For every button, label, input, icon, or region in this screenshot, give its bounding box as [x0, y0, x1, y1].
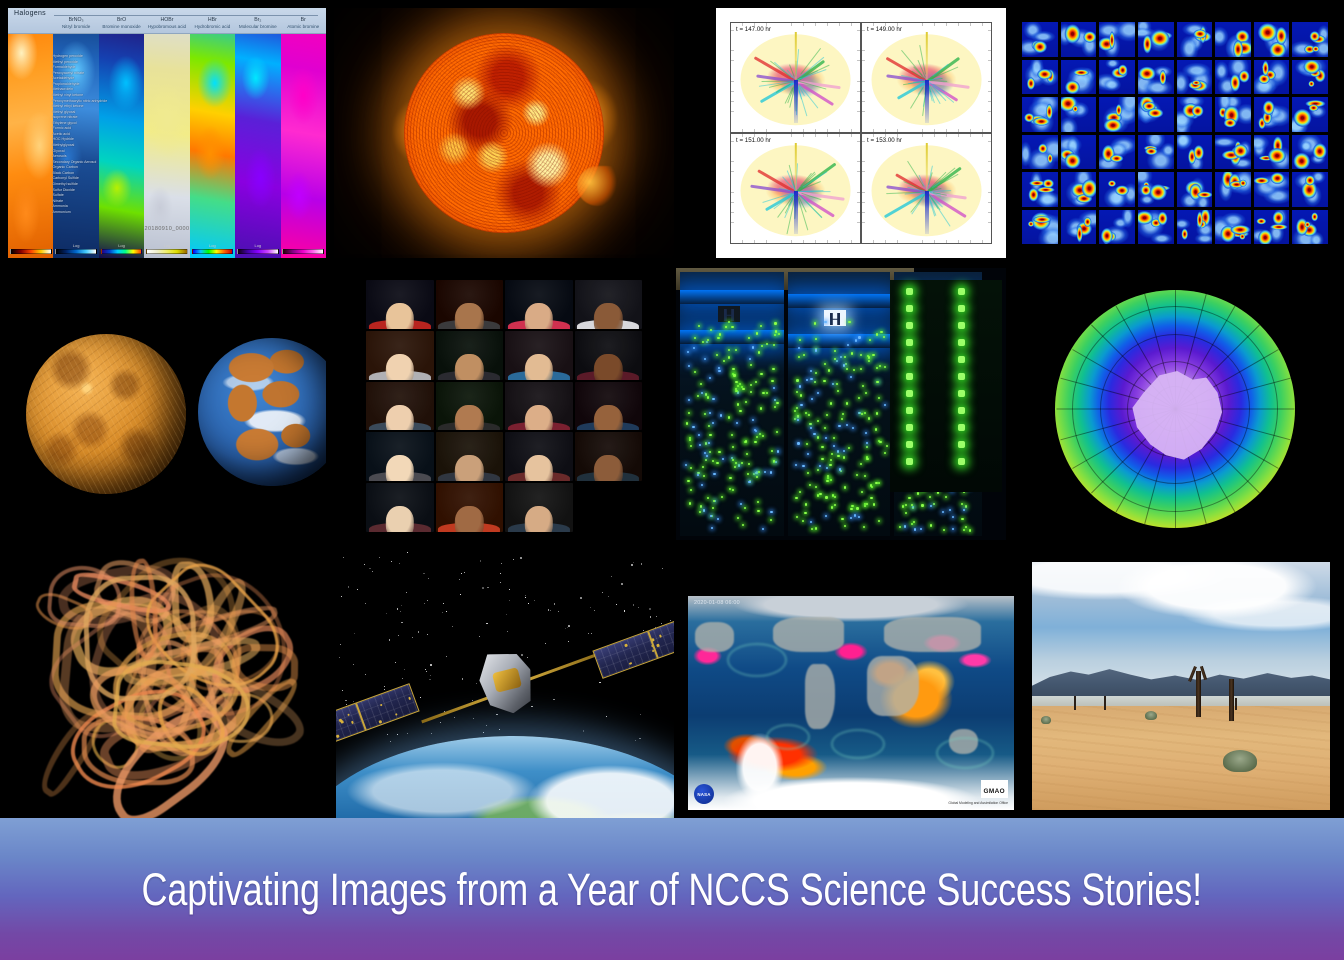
status-led: [879, 365, 881, 367]
status-led: [750, 391, 752, 393]
tile-supercomputer-racks: [676, 268, 1006, 540]
status-led: [774, 406, 776, 408]
participant-head: [594, 405, 622, 431]
status-led: [826, 467, 828, 469]
status-led: [802, 465, 804, 467]
status-led: [815, 527, 817, 529]
star: [462, 678, 464, 680]
status-led: [958, 390, 965, 397]
participant-head: [455, 354, 483, 380]
status-led: [963, 529, 965, 531]
heatmap-cell: [1292, 97, 1328, 132]
status-led: [850, 508, 852, 510]
status-led: [700, 505, 702, 507]
status-led: [843, 450, 845, 452]
star: [357, 589, 358, 590]
status-led: [875, 428, 877, 430]
status-led: [829, 464, 831, 466]
heatmap-cell: [1292, 172, 1328, 207]
status-led: [886, 445, 888, 447]
heatmap-cell: [1022, 60, 1058, 95]
status-led: [864, 475, 866, 477]
status-led: [697, 395, 699, 397]
status-led: [840, 356, 842, 358]
star: [472, 700, 473, 701]
status-led: [847, 344, 849, 346]
status-led: [815, 349, 817, 351]
status-led: [906, 390, 913, 397]
halogen-column: Br₂Molecular bromine Log: [235, 8, 280, 258]
status-led: [810, 378, 812, 380]
status-led: [737, 385, 739, 387]
status-led: [756, 476, 758, 478]
star: [643, 630, 644, 631]
heatmap-cell: [1138, 210, 1174, 245]
status-led: [758, 351, 760, 353]
panel-cell: [347, 713, 350, 716]
heatmap-cell: [1292, 60, 1328, 95]
status-led: [798, 356, 800, 358]
species-item: Ammonium: [53, 210, 108, 216]
participant-head: [455, 455, 483, 481]
status-led: [906, 441, 913, 448]
status-led: [860, 463, 862, 465]
status-led: [707, 339, 709, 341]
status-led: [749, 358, 751, 360]
star: [638, 607, 639, 608]
star: [398, 635, 399, 636]
status-led: [739, 383, 741, 385]
heatmap-cell: [1215, 60, 1251, 95]
status-led: [757, 501, 759, 503]
halogen-column: BrAtomic bromine: [281, 8, 326, 258]
status-led: [834, 496, 836, 498]
star: [520, 557, 521, 558]
status-led: [739, 410, 741, 412]
participant-tile[interactable]: [505, 280, 573, 329]
status-led: [839, 468, 841, 470]
status-led: [851, 352, 853, 354]
star: [531, 706, 533, 708]
field-line-panel: t = 149.00 hr: [861, 22, 992, 133]
status-led: [814, 322, 816, 324]
status-led: [817, 469, 819, 471]
rack-cabinet: [788, 272, 890, 536]
status-led: [728, 356, 730, 358]
status-led: [745, 401, 747, 403]
heatmap-cell: [1022, 172, 1058, 207]
star: [594, 610, 595, 611]
heatmap-cell: [1177, 60, 1213, 95]
panel-cell: [379, 720, 382, 723]
participant-tile[interactable]: [436, 382, 504, 431]
map-timestamp: 2020-01-08 06:00: [694, 600, 740, 606]
star: [509, 589, 510, 590]
status-led: [815, 372, 817, 374]
participant-tile[interactable]: [575, 331, 643, 380]
status-led: [690, 445, 692, 447]
star: [400, 611, 401, 612]
participant-head: [525, 455, 553, 481]
participant-head: [594, 303, 622, 329]
star: [590, 607, 591, 608]
status-led: [701, 484, 703, 486]
participant-head: [594, 354, 622, 380]
status-led: [906, 373, 913, 380]
participant-tile[interactable]: [366, 280, 434, 329]
participant-tile[interactable]: [366, 483, 434, 532]
participant-head: [455, 405, 483, 431]
status-led: [833, 437, 835, 439]
participant-tile[interactable]: [366, 331, 434, 380]
status-led: [766, 392, 768, 394]
heatmap-cell: [1061, 22, 1097, 57]
status-led: [728, 416, 730, 418]
status-led: [712, 507, 714, 509]
heatmap-cell: [1254, 135, 1290, 170]
status-led: [746, 453, 748, 455]
heatmap-cell: [1292, 22, 1328, 57]
status-led: [913, 521, 915, 523]
panel-cell: [625, 644, 628, 647]
status-led: [750, 364, 752, 366]
participant-tile[interactable]: [366, 382, 434, 431]
status-led: [906, 458, 913, 465]
status-led: [694, 371, 696, 373]
status-led: [850, 376, 852, 378]
status-led: [706, 455, 708, 457]
participant-tile[interactable]: [505, 382, 573, 431]
status-led: [709, 451, 711, 453]
participant-tile[interactable]: [505, 483, 573, 532]
panel-time-label: t = 147.00 hr: [736, 26, 771, 33]
star: [608, 596, 609, 597]
participant-tile[interactable]: [505, 432, 573, 481]
gmao-org-name: Global Modeling and Assimilation Office: [948, 801, 1008, 805]
status-led: [906, 322, 913, 329]
heatmap-cell: [1254, 60, 1290, 95]
status-led: [952, 516, 954, 518]
star: [430, 664, 431, 665]
heatmap-cell: [1061, 135, 1097, 170]
venus-globe: [26, 334, 186, 494]
star: [521, 654, 523, 656]
halogen-column: HOBrHypobromous acid Log 20180910_0000: [144, 8, 189, 258]
status-led: [876, 381, 878, 383]
participant-tile[interactable]: [436, 432, 504, 481]
heatmap-cell: [1061, 60, 1097, 95]
status-led: [771, 450, 773, 452]
status-led: [842, 413, 844, 415]
star: [430, 675, 431, 676]
star: [633, 562, 634, 563]
star: [342, 690, 343, 691]
status-led: [705, 459, 707, 461]
colorbar-label: Log: [144, 243, 189, 248]
status-led: [861, 491, 863, 493]
status-led: [855, 339, 857, 341]
halogen-column: [8, 8, 53, 258]
status-led: [797, 442, 799, 444]
panel-time-label: t = 151.00 hr: [736, 137, 771, 144]
status-led: [720, 414, 722, 416]
star: [506, 614, 507, 615]
status-led: [865, 392, 867, 394]
heatmap-cell: [1215, 172, 1251, 207]
star: [525, 595, 526, 596]
star: [429, 679, 431, 681]
status-led: [752, 346, 754, 348]
status-led: [704, 452, 706, 454]
status-led: [764, 471, 766, 473]
desert-bush: [1223, 750, 1257, 772]
status-led: [722, 458, 724, 460]
status-led: [830, 459, 832, 461]
star: [599, 682, 601, 684]
status-led: [810, 521, 812, 523]
status-led: [844, 356, 846, 358]
status-led: [834, 350, 836, 352]
heatmap-cell: [1099, 97, 1135, 132]
halogen-column-label: BrNO₃Nitryl bromide: [53, 17, 98, 29]
status-led: [929, 496, 931, 498]
status-led: [884, 452, 886, 454]
status-led: [878, 482, 880, 484]
status-led: [689, 439, 691, 441]
tile-heatmap-tile-grid: [1014, 8, 1336, 258]
heatmap-cell: [1138, 135, 1174, 170]
status-led: [863, 526, 865, 528]
star: [534, 600, 535, 601]
star: [460, 594, 461, 595]
status-led: [958, 373, 965, 380]
star: [354, 633, 355, 634]
tile-antarctic-ozone-hole: [1014, 278, 1336, 540]
status-led: [687, 351, 689, 353]
status-led: [735, 381, 737, 383]
heatmap-cell: [1292, 210, 1328, 245]
heatmap-grid: [1022, 22, 1328, 244]
status-led: [756, 436, 758, 438]
star: [427, 634, 428, 635]
solar-disk: [404, 33, 604, 233]
status-led: [688, 412, 690, 414]
status-led: [717, 337, 719, 339]
status-led: [748, 463, 750, 465]
status-led: [861, 413, 863, 415]
status-led: [830, 402, 832, 404]
status-led: [943, 529, 945, 531]
participant-tile[interactable]: [436, 331, 504, 380]
status-led: [906, 339, 913, 346]
status-led: [848, 321, 850, 323]
star: [602, 592, 603, 593]
status-led: [728, 349, 730, 351]
status-led: [690, 467, 692, 469]
status-led: [809, 484, 811, 486]
tile-venus-and-earthlike-planet: [8, 318, 326, 510]
status-led: [809, 423, 811, 425]
status-led: [707, 497, 709, 499]
star: [364, 564, 365, 565]
star: [365, 603, 366, 604]
status-led: [756, 332, 758, 334]
star: [401, 605, 402, 606]
status-led: [704, 413, 706, 415]
status-led: [846, 368, 848, 370]
status-led: [873, 503, 875, 505]
status-led: [866, 458, 868, 460]
participant-head: [386, 506, 414, 532]
status-led: [942, 511, 944, 513]
status-led: [745, 440, 747, 442]
participant-tile[interactable]: [575, 432, 643, 481]
status-led: [876, 412, 878, 414]
star: [459, 579, 460, 580]
star: [580, 597, 582, 599]
status-led: [742, 524, 744, 526]
status-led: [766, 343, 768, 345]
status-led: [686, 422, 688, 424]
status-led: [747, 473, 749, 475]
star: [486, 725, 487, 726]
status-led: [692, 426, 694, 428]
status-led: [762, 435, 764, 437]
status-led: [732, 368, 734, 370]
status-led: [870, 497, 872, 499]
status-led: [770, 519, 772, 521]
star: [662, 568, 663, 569]
status-led: [858, 397, 860, 399]
participant-tile[interactable]: [436, 483, 504, 532]
heatmap-cell: [1061, 172, 1097, 207]
participant-tile[interactable]: [505, 331, 573, 380]
colorbar-label: Log: [99, 243, 144, 248]
participant-tile[interactable]: [575, 382, 643, 431]
participant-grid: [366, 280, 642, 532]
status-led: [699, 511, 701, 513]
star: [389, 639, 390, 640]
star: [500, 573, 501, 574]
participant-head: [525, 303, 553, 329]
participant-tile[interactable]: [436, 280, 504, 329]
status-led: [846, 424, 848, 426]
star: [507, 631, 508, 632]
star: [387, 734, 388, 735]
dead-tree-trunk: [1229, 679, 1234, 721]
banner-title: Captivating Images from a Year of NCCS S…: [142, 867, 1202, 912]
status-led: [921, 504, 923, 506]
status-led: [808, 414, 810, 416]
status-led: [713, 500, 715, 502]
status-led: [843, 456, 845, 458]
status-led: [721, 496, 723, 498]
star: [407, 552, 408, 553]
status-led: [741, 462, 743, 464]
status-led: [949, 509, 951, 511]
star: [473, 718, 474, 719]
fence-post: [1235, 698, 1237, 710]
star: [611, 576, 613, 578]
status-led: [804, 512, 806, 514]
status-led: [698, 325, 700, 327]
star: [650, 616, 652, 618]
status-led: [856, 474, 858, 476]
status-led: [876, 367, 878, 369]
halogen-column-label: HOBrHypobromous acid: [144, 17, 189, 29]
status-led: [958, 407, 965, 414]
status-led: [852, 427, 854, 429]
star: [365, 674, 366, 675]
star: [446, 611, 447, 612]
status-led: [716, 354, 718, 356]
star: [424, 603, 425, 604]
status-led: [794, 418, 796, 420]
status-led: [911, 523, 913, 525]
star: [649, 608, 651, 610]
status-led: [750, 384, 752, 386]
desert-bush: [1041, 716, 1051, 724]
status-led: [958, 441, 965, 448]
status-led: [709, 412, 711, 414]
tile-satellite-over-earth: [336, 552, 674, 818]
participant-head: [455, 506, 483, 532]
star: [509, 600, 510, 601]
star: [345, 700, 346, 701]
star: [402, 678, 403, 679]
status-led: [824, 321, 826, 323]
star: [397, 608, 398, 609]
participant-head: [594, 455, 622, 481]
status-led: [712, 398, 714, 400]
status-led: [906, 288, 913, 295]
star: [482, 587, 484, 589]
halogen-column-label: BrAtomic bromine: [281, 17, 326, 29]
participant-head: [386, 405, 414, 431]
status-led: [737, 403, 739, 405]
status-led: [799, 339, 801, 341]
status-led: [800, 404, 802, 406]
status-led: [836, 360, 838, 362]
status-led: [796, 407, 798, 409]
desert-bush: [1145, 711, 1157, 720]
star: [384, 689, 385, 690]
status-led: [869, 339, 871, 341]
status-led: [795, 497, 797, 499]
heatmap-cell: [1177, 22, 1213, 57]
star: [639, 738, 641, 740]
status-led: [705, 393, 707, 395]
status-led: [914, 528, 916, 530]
status-led: [802, 520, 804, 522]
star: [390, 741, 391, 742]
star: [588, 633, 589, 634]
participant-tile[interactable]: [366, 432, 434, 481]
status-led: [711, 527, 713, 529]
participant-tile[interactable]: [575, 280, 643, 329]
star: [527, 657, 529, 659]
star: [487, 587, 489, 589]
status-led: [689, 502, 691, 504]
status-led: [878, 397, 880, 399]
status-led: [742, 388, 744, 390]
heatmap-cell: [1215, 210, 1251, 245]
colorbar-label: Log: [53, 243, 98, 248]
status-led: [762, 528, 764, 530]
status-led: [958, 322, 965, 329]
status-led: [958, 339, 965, 346]
panel-cell: [380, 704, 383, 707]
